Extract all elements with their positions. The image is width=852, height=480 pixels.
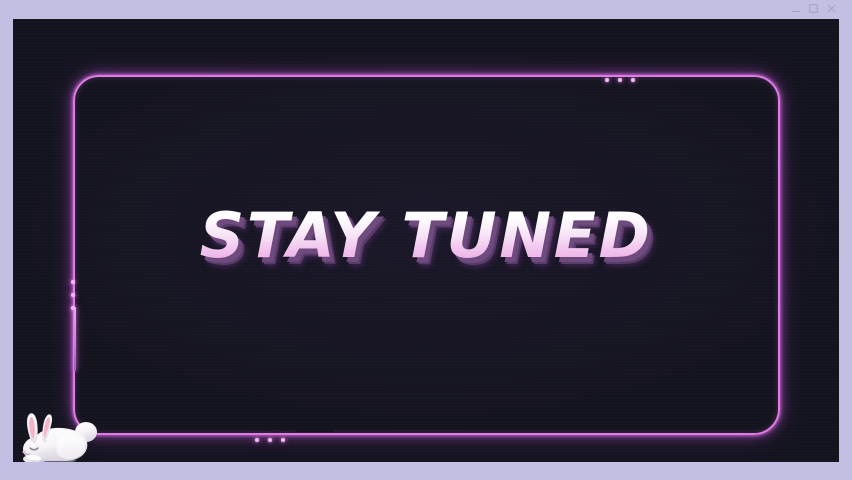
decor-dot [631,78,635,82]
window-controls [791,2,836,14]
headline-fill: STAY TUNED [200,205,653,267]
decor-dot [281,438,285,442]
neon-frame-gap [296,422,334,432]
stage-vignette [13,19,839,462]
headline-text: STAY TUNED STAY TUNED [200,205,653,267]
screen-root: STAY TUNED STAY TUNED [0,0,852,480]
headline-container: STAY TUNED STAY TUNED [13,19,839,462]
decor-dot [268,438,272,442]
accent-vertical-line [74,307,76,371]
decor-dot [71,306,75,310]
minimize-icon[interactable] [791,4,800,13]
maximize-icon[interactable] [809,4,818,13]
decor-dot [618,78,622,82]
decor-dots-bottom [255,438,285,442]
sleeping-bunny-icon [15,402,101,462]
decor-dot [255,438,259,442]
neon-frame-border [73,75,780,435]
stage-scanlines [13,19,839,462]
decor-dot [605,78,609,82]
decor-dot [71,293,75,297]
headline-shadow: STAY TUNED [204,210,657,272]
decor-dots-left [71,280,75,310]
close-icon[interactable] [827,4,836,13]
decor-dot [71,280,75,284]
video-stage: STAY TUNED STAY TUNED [13,19,839,462]
decor-dots-top [605,78,635,82]
